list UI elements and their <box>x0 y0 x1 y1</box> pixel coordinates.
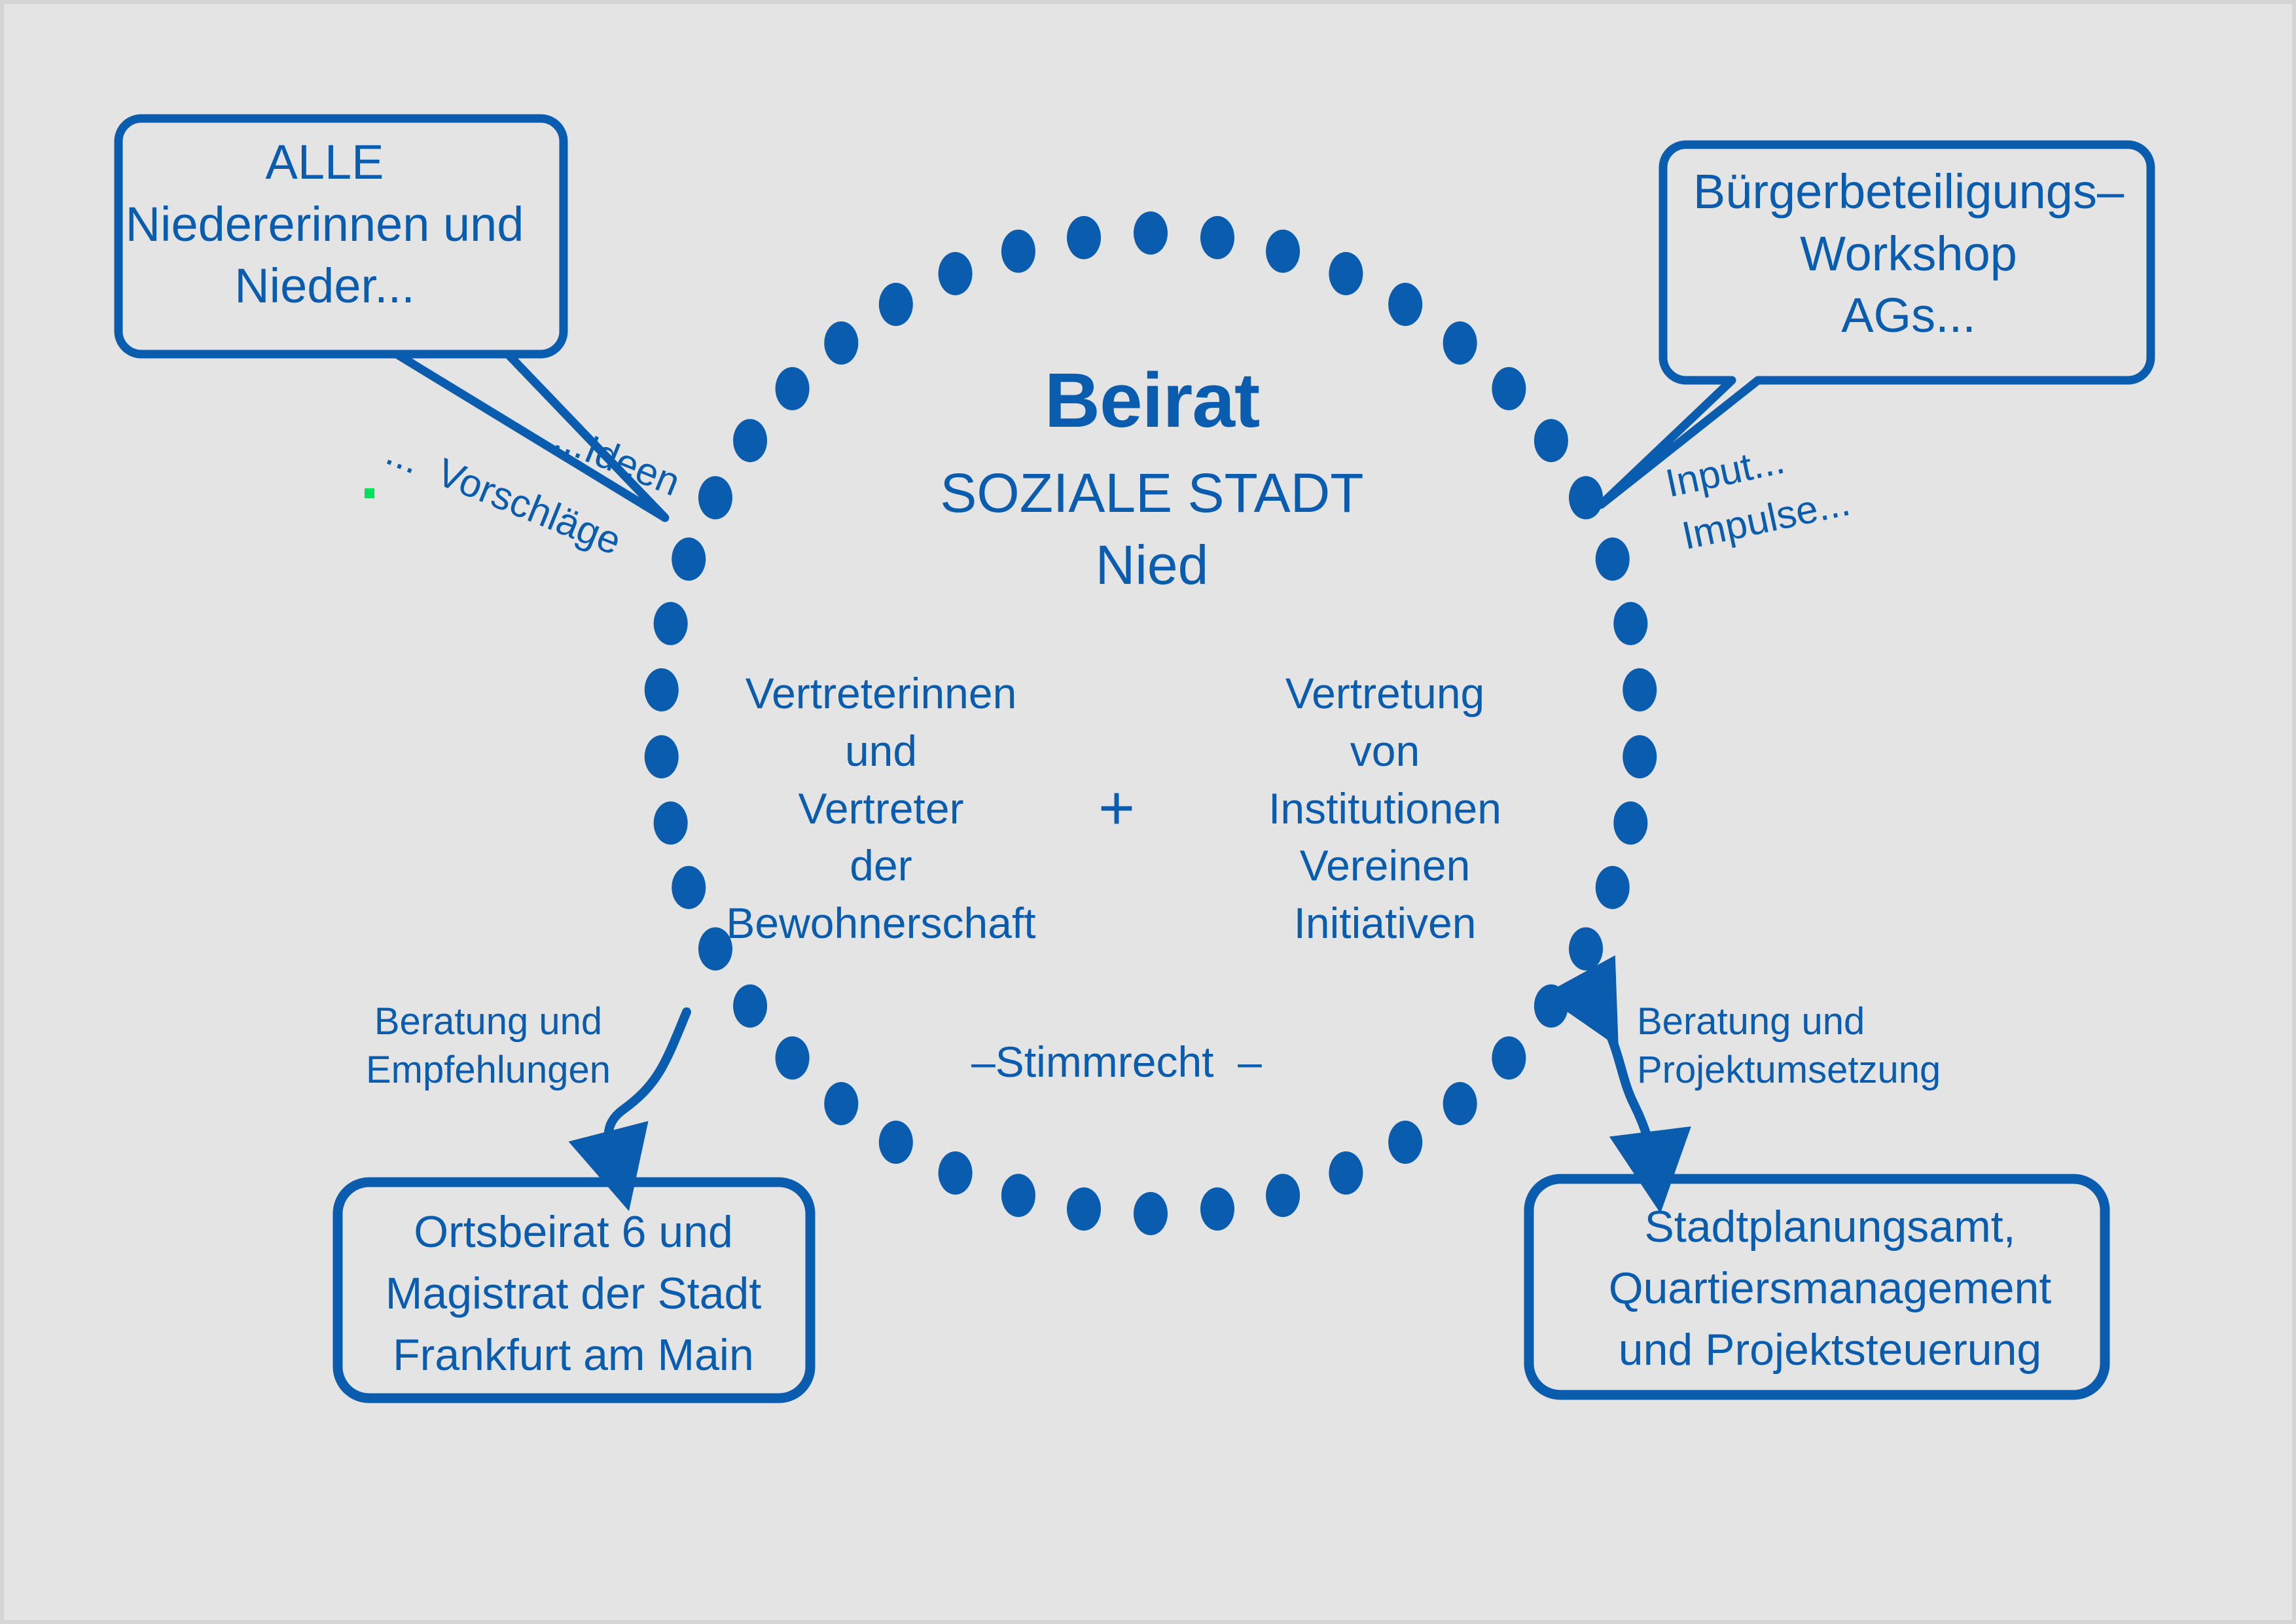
diagram-canvas: ALLE Niedererinnen und Nieder... Bürgerb… <box>0 0 2296 1624</box>
circle-dot <box>654 602 688 645</box>
circle-dot <box>1613 602 1647 645</box>
circle-dot <box>672 537 706 581</box>
circle-dot <box>776 367 810 410</box>
circle-dot <box>939 1151 973 1195</box>
label-beratung-projektumsetzung: Beratung und Projektumsetzung <box>1637 998 1964 1094</box>
circle-dot <box>1613 801 1647 844</box>
center-subtitle-line-1: SOZIALE STADT <box>825 462 1479 524</box>
circle-dot <box>1534 419 1568 462</box>
circle-dot <box>1001 230 1035 273</box>
circle-dot <box>1623 735 1657 778</box>
circle-dot <box>1200 1187 1234 1231</box>
center-left-column: Vertreterinnen und Vertreter der Bewohne… <box>672 665 1090 952</box>
box-ortsbeirat-label: Ortsbeirat 6 und Magistrat der Stadt Fra… <box>331 1202 816 1386</box>
circle-dot <box>698 476 732 519</box>
circle-dot <box>1329 252 1363 295</box>
circle-dot <box>1200 216 1234 259</box>
stimmrecht-note: –Stimmrecht – <box>855 1038 1378 1087</box>
circle-dot <box>1569 476 1603 519</box>
circle-dot <box>879 283 913 326</box>
circle-dot <box>1596 537 1630 581</box>
circle-dot <box>1266 230 1300 273</box>
circle-dot <box>1001 1174 1035 1217</box>
circle-dot <box>1492 1036 1526 1079</box>
circle-dot <box>733 984 767 1028</box>
box-stadtplanungsamt-label: Stadtplanungsamt, Quartiersmanagement un… <box>1535 1197 2125 1380</box>
circle-dot <box>1388 1121 1422 1164</box>
circle-dot <box>939 252 973 295</box>
circle-dot <box>879 1121 913 1164</box>
circle-dot <box>1596 866 1630 909</box>
green-marker-dot <box>365 488 374 498</box>
circle-dot <box>824 1082 858 1125</box>
circle-dot <box>1443 1082 1477 1125</box>
circle-dot <box>1534 984 1568 1028</box>
circle-dot <box>1569 928 1603 971</box>
circle-dot <box>1134 1192 1168 1235</box>
center-right-column: Vertretung von Institutionen Vereinen In… <box>1202 665 1568 952</box>
circle-dot <box>1134 211 1168 255</box>
page-title: Beirat <box>825 357 1479 444</box>
circle-dot <box>733 419 767 462</box>
circle-dot <box>1388 283 1422 326</box>
bubble-top-right-label: Bürgerbeteiligungs– Workshop AGs... <box>1666 161 2151 347</box>
plus-operator: + <box>1051 773 1182 844</box>
circle-dot <box>776 1036 810 1079</box>
bubble-top-left-label: ALLE Niedererinnen und Nieder... <box>89 132 560 317</box>
circle-dot <box>1067 1187 1101 1231</box>
circle-dot <box>1266 1174 1300 1217</box>
label-beratung-empfehlungen: Beratung und Empfehlungen <box>344 998 632 1094</box>
center-subtitle-line-2: Nied <box>825 534 1479 596</box>
circle-dot <box>1492 367 1526 410</box>
circle-dot <box>1623 668 1657 712</box>
circle-dot <box>1329 1151 1363 1195</box>
circle-dot <box>1067 216 1101 259</box>
